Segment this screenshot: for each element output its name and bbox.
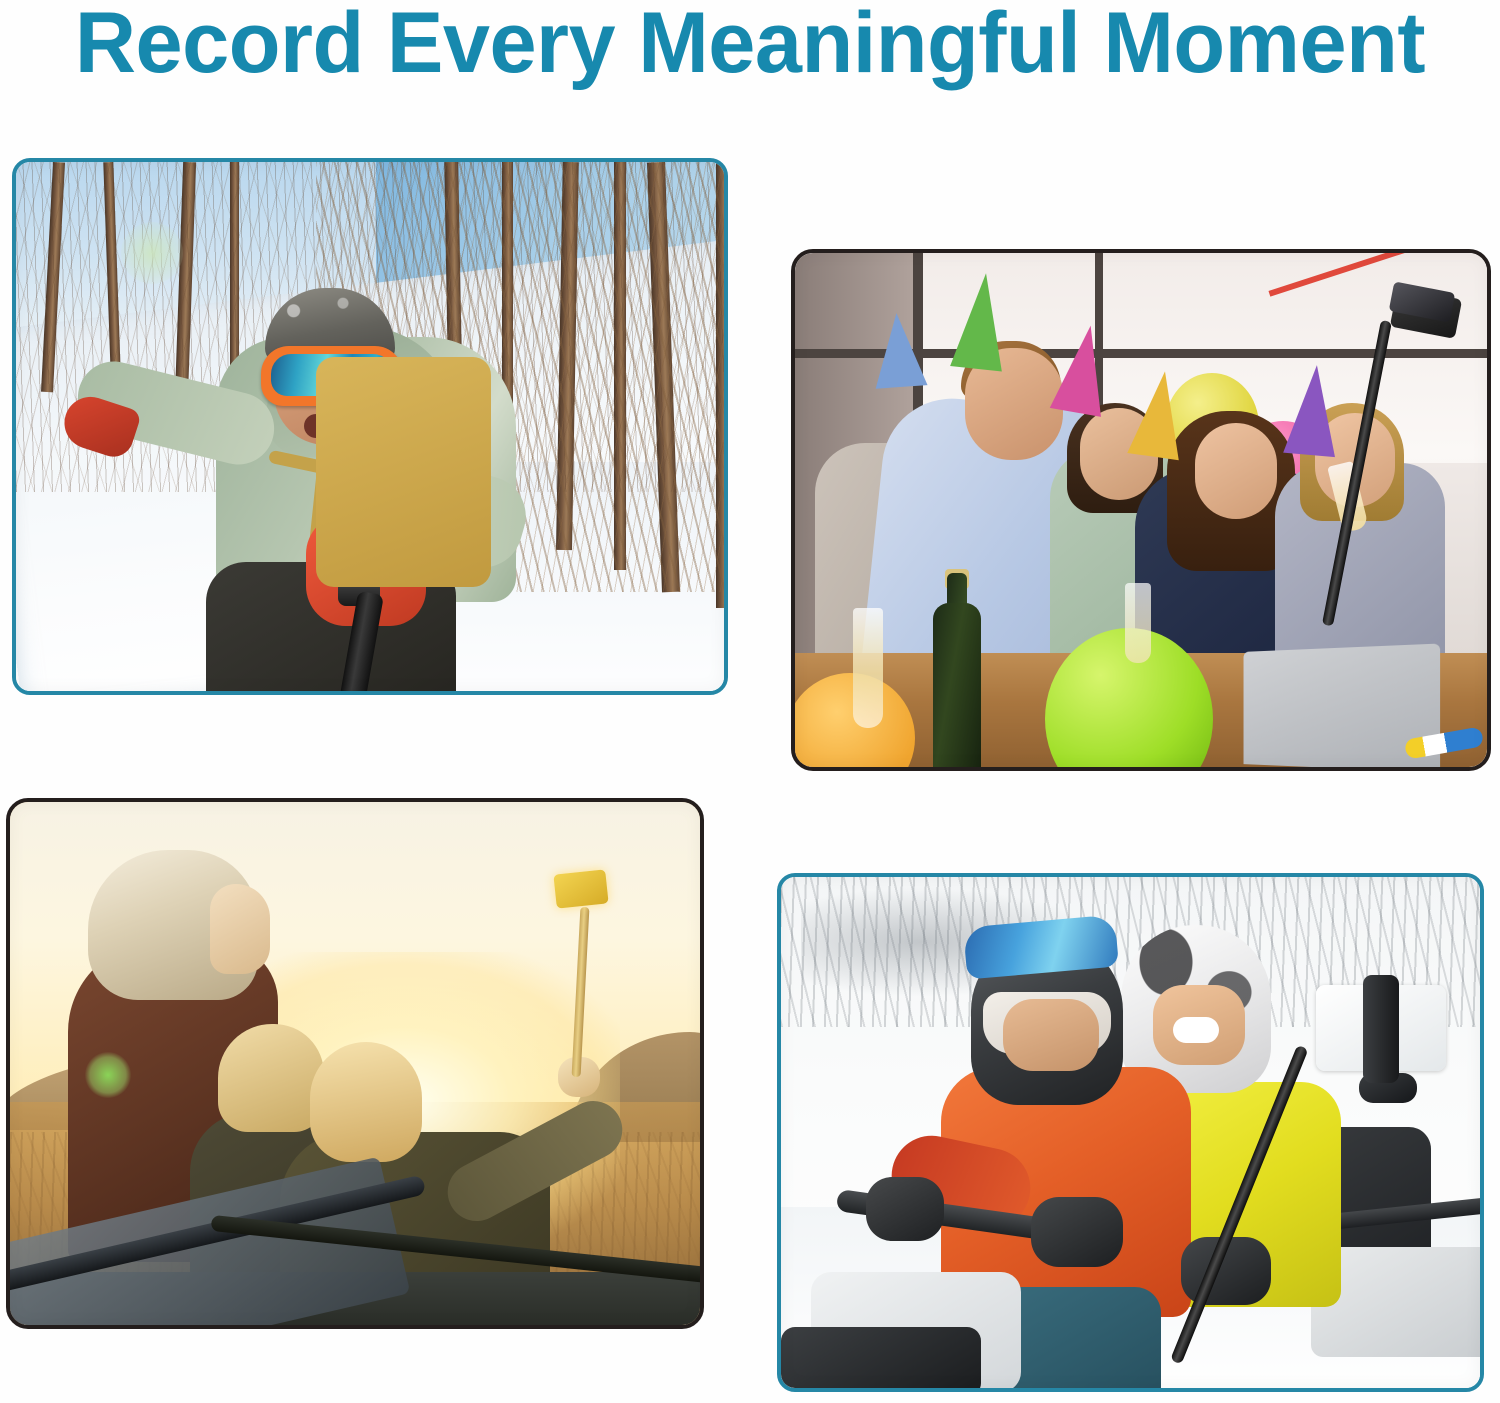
snowmobile-track — [781, 1327, 981, 1388]
person-head — [1195, 423, 1277, 519]
photo-snowboard-selfie — [16, 162, 724, 691]
person-head — [310, 1042, 422, 1162]
woman-face — [210, 884, 270, 974]
backpack — [316, 357, 491, 587]
party-hat — [950, 271, 1012, 372]
gallery-panel-snowmobile[interactable] — [777, 873, 1484, 1392]
champagne-bottle — [933, 603, 981, 767]
man-right-glove — [1031, 1197, 1123, 1267]
champagne-flute — [853, 608, 883, 728]
lens-flare — [85, 1052, 131, 1098]
man-left-glove — [866, 1177, 944, 1241]
photo-office-party-selfie — [795, 253, 1487, 767]
woman-smile — [1173, 1017, 1219, 1043]
lens-flare — [121, 222, 183, 284]
party-hat — [870, 311, 927, 388]
gallery-panel-sunset[interactable] — [6, 798, 704, 1329]
photo-sunset-family-selfie — [10, 802, 700, 1325]
gallery-panel-snowboard[interactable] — [12, 158, 728, 695]
gallery-panel-party[interactable] — [791, 249, 1491, 771]
party-hat — [1283, 363, 1343, 457]
child-head — [218, 1024, 324, 1132]
page-title: Record Every Meaningful Moment — [11, 0, 1489, 93]
champagne-flute — [1125, 583, 1151, 663]
phone-on-selfie-stick — [553, 869, 608, 908]
phone-clamp — [1363, 975, 1399, 1083]
photo-snowmobile-selfie — [781, 877, 1480, 1388]
man-face — [1003, 999, 1099, 1071]
